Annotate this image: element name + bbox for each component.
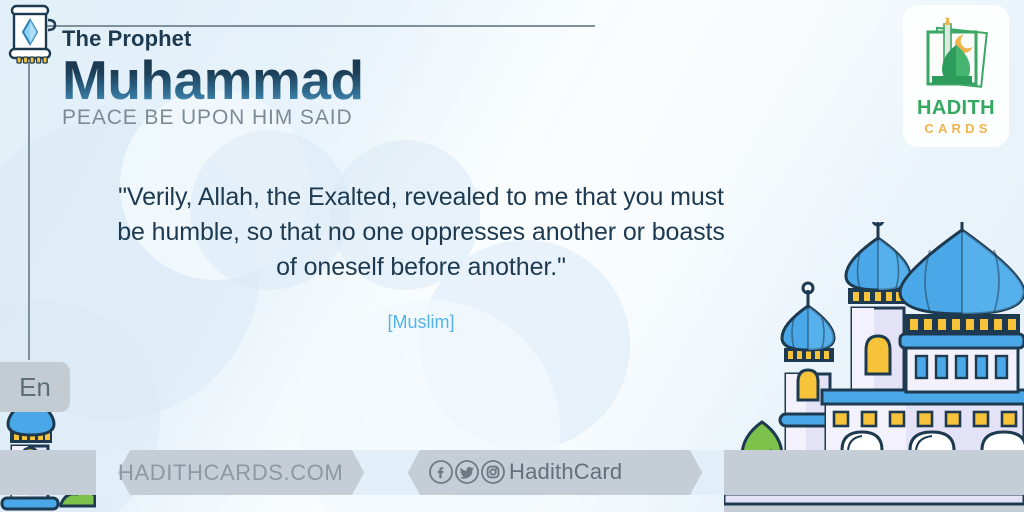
quote-line: of oneself before another." [58, 250, 784, 285]
header-subline: PEACE BE UPON HIM SAID [62, 106, 364, 129]
quote-line: be humble, so that no one oppresses anot… [58, 215, 784, 250]
quote-line: "Verily, Allah, the Exalted, revealed to… [58, 180, 784, 215]
quote-source: [Muslim] [58, 312, 784, 333]
vertical-divider-line [28, 62, 30, 360]
logo-title: HADITH [917, 98, 995, 118]
instagram-icon[interactable] [480, 459, 506, 485]
header-superline: The Prophet [62, 28, 364, 50]
hadith-card: The Prophet Muhammad PEACE BE UPON HIM S… [0, 0, 1024, 512]
footer-website-label[interactable]: HADITHCARDS.COM [118, 460, 343, 486]
twitter-icon[interactable] [454, 459, 480, 485]
facebook-icon[interactable] [428, 459, 454, 485]
header-block: The Prophet Muhammad PEACE BE UPON HIM S… [62, 28, 364, 129]
footer-social-group: HadithCard [428, 459, 622, 485]
logo-subtitle: CARDS [920, 122, 991, 135]
lantern-icon [5, 2, 57, 66]
footer-social-handle[interactable]: HadithCard [509, 459, 622, 485]
hadith-cards-logo[interactable]: HADITH CARDS [904, 6, 1008, 146]
language-badge[interactable]: En [0, 362, 70, 412]
page-title: Muhammad [62, 52, 364, 108]
mosque-photo-card-icon [918, 16, 994, 96]
quote-block: "Verily, Allah, the Exalted, revealed to… [58, 180, 784, 333]
